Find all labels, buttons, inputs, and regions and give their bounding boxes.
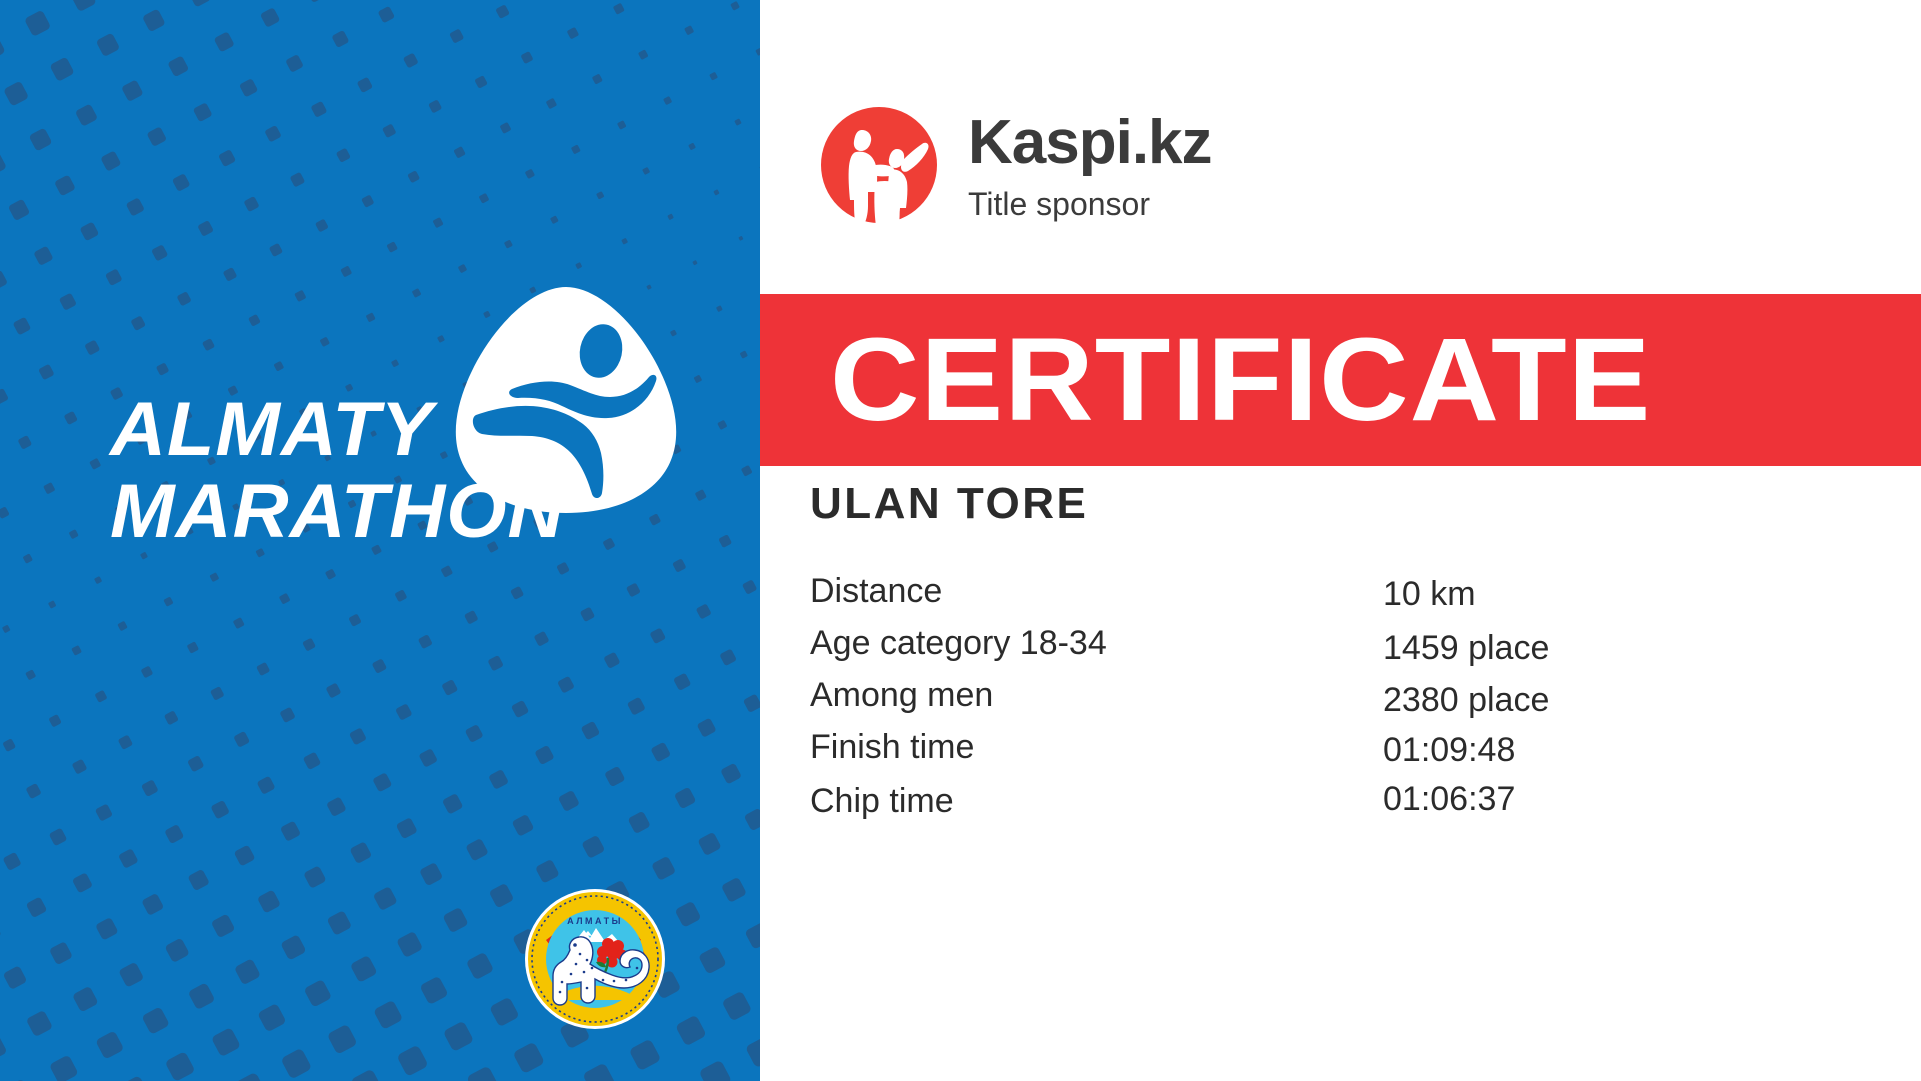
table-row: Age category 18-34 1459 place: [810, 624, 1790, 676]
svg-text:АЛМАТЫ: АЛМАТЫ: [567, 916, 623, 926]
result-label: Chip time: [810, 782, 954, 821]
title-sponsor-block: Kaspi.kz Title sponsor: [818, 104, 1212, 226]
table-row: Chip time 01:06:37: [810, 776, 1790, 828]
participant-name: ULAN TORE: [810, 482, 1088, 526]
certificate-title: CERTIFICATE: [830, 321, 1651, 439]
logo-line-marathon: MARATHON: [110, 475, 589, 549]
certificate-page: ALMATY MARATHON: [0, 0, 1921, 1081]
result-value: 10 km: [1383, 575, 1476, 614]
result-value: 1459 place: [1383, 629, 1549, 668]
result-label: Distance: [810, 572, 942, 611]
sponsor-name: Kaspi.kz: [968, 112, 1212, 174]
results-table: Distance 10 km Age category 18-34 1459 p…: [810, 572, 1790, 828]
result-label: Age category 18-34: [810, 624, 1107, 663]
result-value: 01:09:48: [1383, 731, 1515, 770]
table-row: Among men 2380 place: [810, 676, 1790, 728]
left-brand-panel: ALMATY MARATHON: [0, 0, 760, 1081]
almaty-marathon-logo: ALMATY MARATHON: [110, 285, 700, 605]
result-label: Among men: [810, 676, 993, 715]
certificate-banner: CERTIFICATE: [760, 294, 1921, 466]
almaty-city-emblem-icon: АЛМАТЫ: [524, 888, 666, 1030]
almaty-marathon-wordmark: ALMATY MARATHON: [110, 393, 580, 550]
sponsor-role: Title sponsor: [968, 188, 1212, 220]
table-row: Distance 10 km: [810, 572, 1790, 624]
result-value: 01:06:37: [1383, 780, 1515, 819]
kaspi-family-circle-icon: [818, 104, 940, 226]
result-value: 2380 place: [1383, 681, 1549, 720]
logo-line-almaty: ALMATY: [110, 393, 589, 467]
table-row: Finish time 01:09:48: [810, 728, 1790, 776]
result-label: Finish time: [810, 728, 974, 767]
